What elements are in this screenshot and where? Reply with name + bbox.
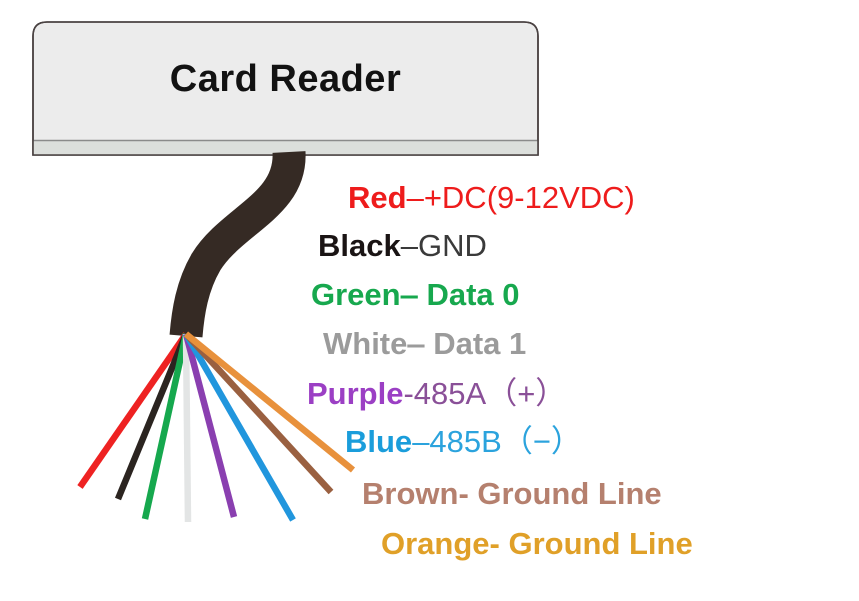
wiring-diagram-canvas: Card Reader Red‒+DC(9-12VDC) Black‒GND G… [0,0,859,601]
wire-orange [186,334,353,470]
wire-blue [186,334,293,520]
page-title: Card Reader [33,58,538,101]
cable-sheath-group [186,152,289,336]
cable-sheath [186,152,289,336]
wire-fan-group [80,334,353,522]
wire-white [186,334,188,522]
